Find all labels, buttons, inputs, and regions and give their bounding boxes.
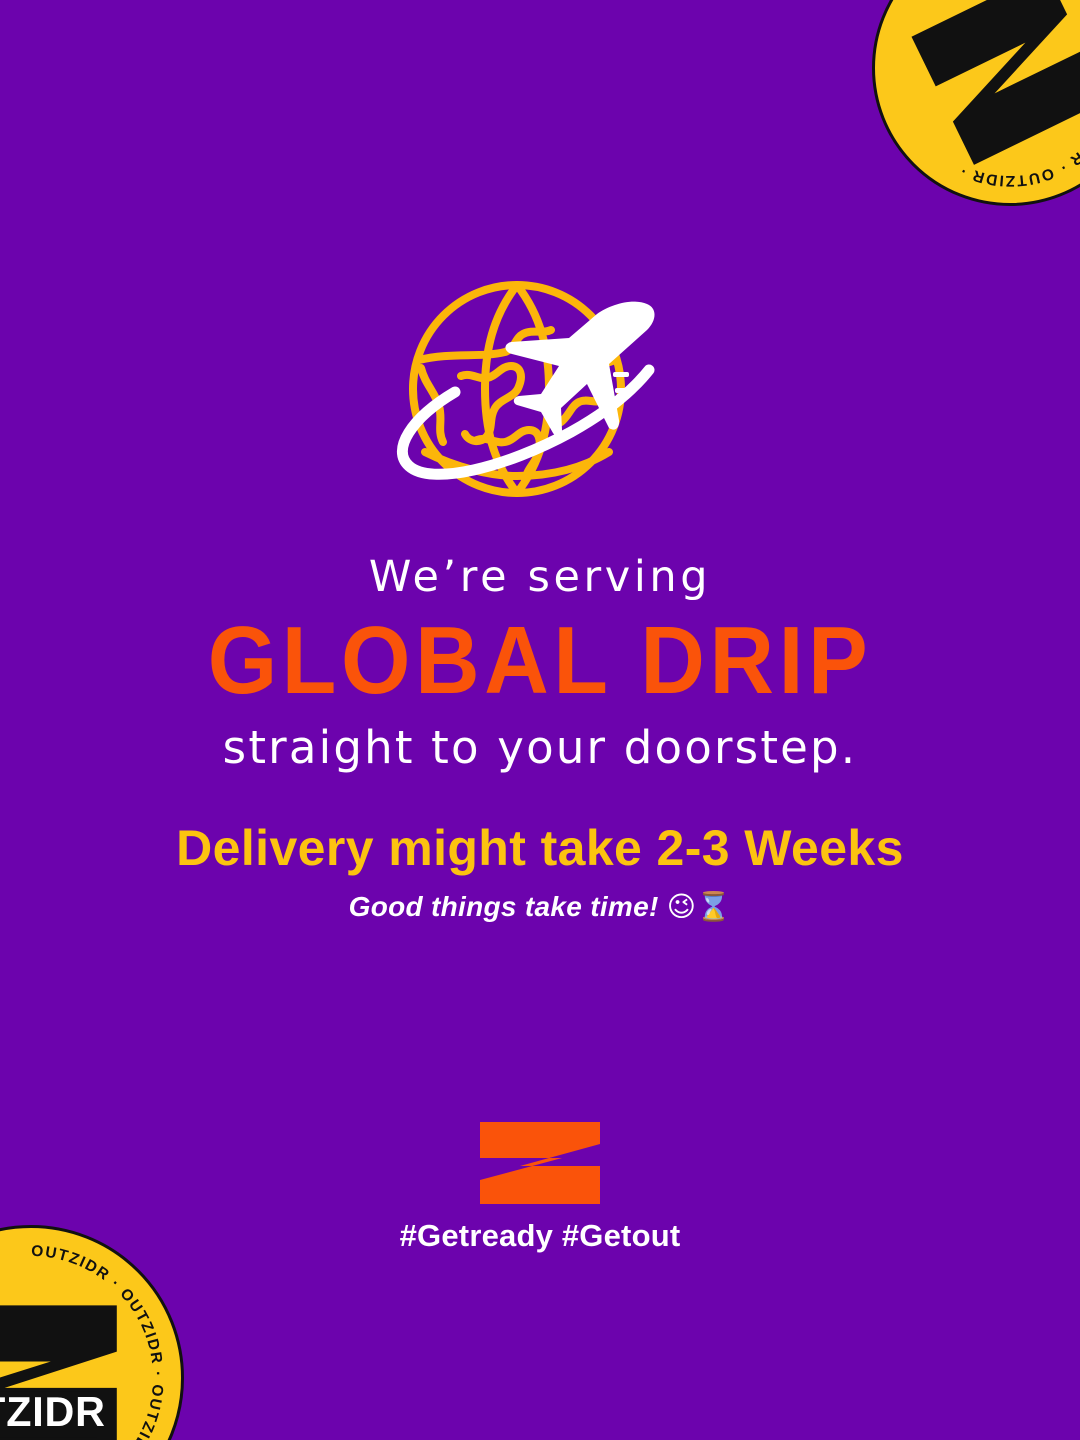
outzidr-z-logo (478, 1122, 602, 1204)
delivery-notice-block: Delivery might take 2-3 Weeks Good thing… (0, 820, 1080, 923)
headline-kicker: We’re serving (0, 552, 1080, 603)
delivery-note-text: Good things take time! (349, 891, 659, 922)
brand-seal-bottom-left: OUTZIDR · OUTZIDR · OUTZIDR · OUTZIDR · … (0, 1225, 184, 1440)
seal-z-mark-top-right (911, 0, 1080, 165)
hero-illustration (0, 272, 1080, 512)
delivery-note: Good things take time! 😉⌛ (0, 890, 1080, 923)
airplane-icon (505, 302, 654, 436)
headline-subline: straight to your doorstep. (0, 721, 1080, 775)
promo-poster: OUTZIDR · OUTZIDR · OUTZIDR · OUTZIDR · (0, 0, 1080, 1440)
brand-seal-top-right: OUTZIDR · OUTZIDR · OUTZIDR · OUTZIDR · (872, 0, 1080, 206)
headline-main: GLOBAL DRIP (38, 611, 1042, 711)
seal-core-bottom-left: OUTZIDR (0, 1279, 130, 1440)
delivery-headline: Delivery might take 2-3 Weeks (0, 820, 1080, 876)
seal-core-top-right (921, 0, 1080, 157)
headline-block: We’re serving GLOBAL DRIP straight to yo… (0, 552, 1080, 775)
wink-hourglass-emoji: 😉⌛ (667, 890, 732, 923)
seal-wordmark-bottom-left: OUTZIDR (0, 1389, 106, 1435)
